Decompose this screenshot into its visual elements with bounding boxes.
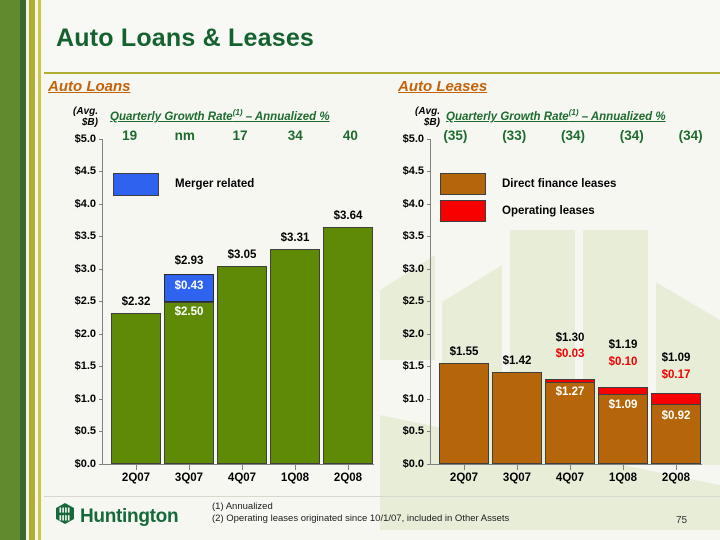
y-tick-label: $4.5 (390, 165, 424, 177)
y-tick (99, 464, 103, 465)
bar-segment-label-operating-1Q08: $0.10 (595, 356, 651, 368)
x-axis-label: 2Q07 (108, 472, 164, 484)
page-number: 75 (676, 515, 687, 526)
bar-total-label: $2.93 (161, 255, 217, 267)
y-tick (427, 204, 431, 205)
bar-segment-label-merger-3Q07: $0.43 (161, 280, 217, 292)
huntington-logo: Huntington (54, 503, 178, 530)
y-tick-label: $4.0 (390, 198, 424, 210)
y-tick (99, 334, 103, 335)
footnote-2: (2) Operating leases originated since 10… (212, 513, 509, 525)
auto-loans-section-title: Auto Loans (48, 78, 378, 95)
footnotes: (1) Annualized (2) Operating leases orig… (212, 501, 509, 525)
x-tick (295, 465, 296, 470)
legend-label-operating-leases: Operating leases (502, 205, 595, 217)
y-tick (99, 269, 103, 270)
x-tick (676, 465, 677, 470)
left-decor-stripes (0, 0, 44, 540)
x-tick (464, 465, 465, 470)
y-tick-label: $2.0 (62, 328, 96, 340)
x-tick (348, 465, 349, 470)
bar-segment-label-operating-2Q08: $0.17 (648, 369, 704, 381)
huntington-wordmark: Huntington (80, 506, 178, 528)
bar-total-label: $3.64 (320, 210, 376, 222)
auto-leases-chart: $5.0 $4.5 $4.0 $3.5 $3.0 $2.5 $2.0 $1.5 … (398, 134, 720, 494)
y-tick (427, 464, 431, 465)
y-tick-label: $1.5 (62, 360, 96, 372)
auto-leases-section-title: Auto Leases (398, 78, 720, 95)
y-tick-label: $3.0 (390, 263, 424, 275)
bar-segment-label-direct-4Q07: $1.27 (542, 386, 598, 398)
x-tick (189, 465, 190, 470)
stripe-olive (0, 0, 20, 540)
y-tick (427, 334, 431, 335)
y-tick-label: $1.0 (390, 393, 424, 405)
legend-swatch-direct-finance-leases (440, 173, 486, 195)
bar-total-label: $1.55 (436, 346, 492, 358)
footnote-1: (1) Annualized (212, 501, 509, 513)
bar-segment-loans-4Q07[interactable] (217, 266, 267, 464)
y-tick (99, 171, 103, 172)
legend-swatch-operating-leases (440, 200, 486, 222)
y-tick (427, 236, 431, 237)
y-tick (99, 366, 103, 367)
bar-total-label: $1.30 (542, 332, 598, 344)
bar-segment-label-direct-1Q08: $1.09 (595, 399, 651, 411)
bar-total-label: $1.09 (648, 352, 704, 364)
y-tick-label: $0.0 (62, 458, 96, 470)
header-divider (44, 72, 720, 74)
x-axis-label: 4Q07 (542, 472, 598, 484)
y-tick (427, 269, 431, 270)
y-tick (99, 301, 103, 302)
bar-segment-direct-3Q07[interactable] (492, 372, 542, 464)
x-tick (570, 465, 571, 470)
auto-loans-growth-header: Quarterly Growth Rate(1) – Annualized % (110, 108, 330, 123)
auto-leases-growth-header: Quarterly Growth Rate(1) – Annualized % (446, 108, 666, 123)
y-tick-label: $3.5 (62, 230, 96, 242)
y-tick-label: $5.0 (390, 133, 424, 145)
y-tick-label: $3.0 (62, 263, 96, 275)
bar-segment-loans-1Q08[interactable] (270, 249, 320, 464)
huntington-mark-icon (54, 503, 76, 530)
auto-loans-panel: Auto Loans (Avg. $B) Quarterly Growth Ra… (48, 78, 378, 95)
legend-label-direct-finance-leases: Direct finance leases (502, 178, 616, 190)
y-tick (427, 301, 431, 302)
bar-segment-label-loans-3Q07: $2.50 (161, 306, 217, 318)
x-axis-label: 2Q08 (320, 472, 376, 484)
x-tick (136, 465, 137, 470)
auto-loans-chart: $5.0 $4.5 $4.0 $3.5 $3.0 $2.5 $2.0 $1.5 … (48, 134, 378, 494)
x-axis-label: 1Q08 (595, 472, 651, 484)
bar-segment-loans-2Q07[interactable] (111, 313, 161, 464)
y-tick-label: $0.5 (390, 425, 424, 437)
y-tick-label: $2.5 (390, 295, 424, 307)
y-tick (427, 171, 431, 172)
legend-label-merger-related: Merger related (175, 178, 254, 190)
y-tick-label: $3.5 (390, 230, 424, 242)
y-tick-label: $2.0 (390, 328, 424, 340)
x-axis-label: 3Q07 (161, 472, 217, 484)
slide-header: Auto Loans & Leases (44, 0, 720, 72)
y-tick-label: $2.5 (62, 295, 96, 307)
y-tick-label: $0.0 (390, 458, 424, 470)
x-axis-label: 4Q07 (214, 472, 270, 484)
y-tick (427, 399, 431, 400)
y-tick-label: $5.0 (62, 133, 96, 145)
y-tick-label: $0.5 (62, 425, 96, 437)
bar-total-label: $1.19 (595, 339, 651, 351)
bar-segment-direct-2Q07[interactable] (439, 363, 489, 464)
y-tick-label: $4.5 (62, 165, 96, 177)
stripe-white-3 (41, 0, 44, 540)
legend-swatch-merger-related (113, 173, 159, 196)
x-axis-line (430, 464, 702, 465)
x-axis-label: 2Q08 (648, 472, 704, 484)
bar-total-label: $2.32 (108, 296, 164, 308)
footer-divider (44, 496, 720, 497)
y-tick-label: $1.0 (62, 393, 96, 405)
bar-total-label: $3.31 (267, 232, 323, 244)
x-axis-label: 3Q07 (489, 472, 545, 484)
auto-leases-panel: Auto Leases (Avg. $B) Quarterly Growth R… (398, 78, 720, 95)
x-axis-label: 2Q07 (436, 472, 492, 484)
bar-total-label: $3.05 (214, 249, 270, 261)
bar-segment-label-direct-2Q08: $0.92 (648, 410, 704, 422)
bar-segment-loans-3Q07[interactable] (164, 302, 214, 464)
y-tick (99, 236, 103, 237)
y-tick (427, 139, 431, 140)
x-tick (517, 465, 518, 470)
y-tick (99, 139, 103, 140)
x-axis-line (102, 464, 374, 465)
y-tick (99, 399, 103, 400)
y-tick (427, 366, 431, 367)
auto-loans-avg-unit-label: (Avg. $B) (62, 106, 98, 128)
bar-segment-loans-2Q08[interactable] (323, 227, 373, 464)
x-tick (242, 465, 243, 470)
y-tick-label: $1.5 (390, 360, 424, 372)
y-tick-label: $4.0 (62, 198, 96, 210)
x-axis-label: 1Q08 (267, 472, 323, 484)
x-tick (623, 465, 624, 470)
y-tick (99, 204, 103, 205)
auto-leases-avg-unit-label: (Avg. $B) (404, 106, 440, 128)
y-tick (99, 431, 103, 432)
bar-segment-label-operating-4Q07: $0.03 (542, 348, 598, 360)
page-title: Auto Loans & Leases (56, 24, 314, 53)
y-tick (427, 431, 431, 432)
bar-total-label: $1.42 (489, 355, 545, 367)
